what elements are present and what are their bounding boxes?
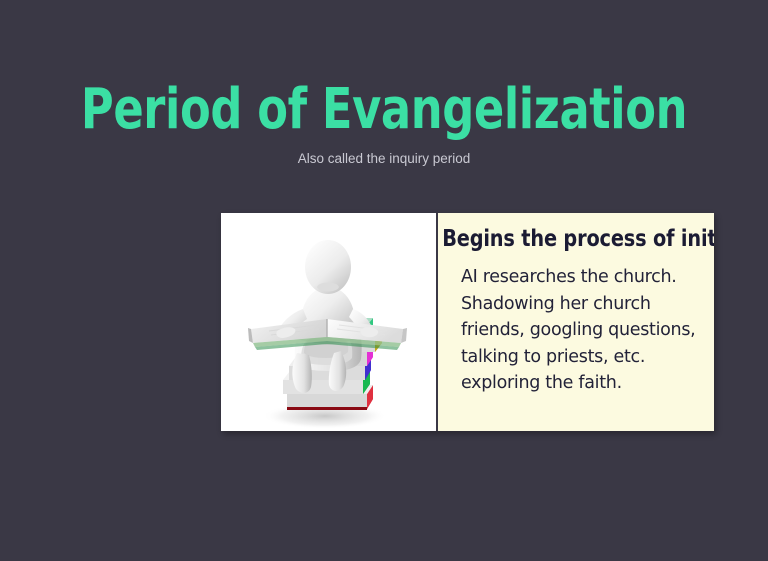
card-body-line: friends, googling questions, [461,317,706,344]
card-body-line: Shadowing her church [461,291,706,318]
page-title: Period of Evangelization [77,80,691,140]
card-body-line: talking to priests, etc. [461,344,706,371]
presentation-slide: Period of Evangelization Also called the… [0,0,768,561]
card-heading: Begins the process of initiation [438,213,670,252]
content-card: Begins the process of initiation AI rese… [221,213,714,431]
card-body: AI researches the church. Shadowing her … [438,252,714,397]
person-reading-book-on-stack-of-books-icon [221,213,436,431]
card-body-line: AI researches the church. [461,264,706,291]
title-block: Period of Evangelization Also called the… [0,80,768,168]
page-subtitle: Also called the inquiry period [0,150,768,168]
card-body-line: exploring the faith. [461,370,706,397]
illustration-panel [221,213,436,431]
text-panel: Begins the process of initiation AI rese… [438,213,714,431]
